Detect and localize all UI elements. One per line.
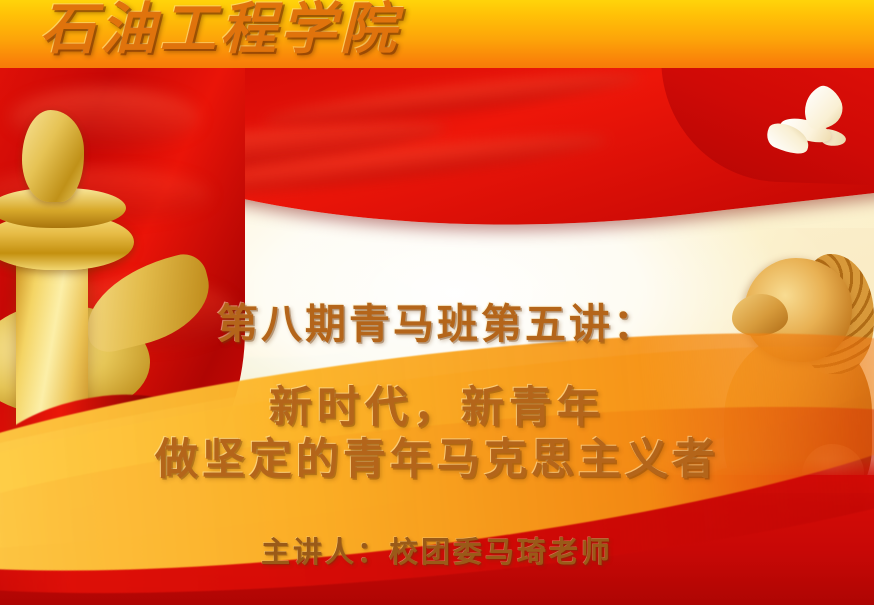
lecture-series-headline: 第八期青马班第五讲：: [0, 290, 874, 350]
header-banner: 石油工程学院: [0, 0, 874, 68]
main-title-line-2: 做坚定的青年马克思主义者: [0, 425, 874, 487]
dove-icon: [762, 90, 848, 162]
speaker-line: 主讲人：校团委马琦老师: [0, 529, 874, 571]
slide-artwork: 第八期青马班第五讲： 新时代，新青年 做坚定的青年马克思主义者 主讲人：校团委马…: [0, 68, 874, 605]
institution-name: 石油工程学院: [40, 0, 400, 64]
presentation-slide: 第八期青马班第五讲： 新时代，新青年 做坚定的青年马克思主义者 主讲人：校团委马…: [0, 0, 874, 605]
